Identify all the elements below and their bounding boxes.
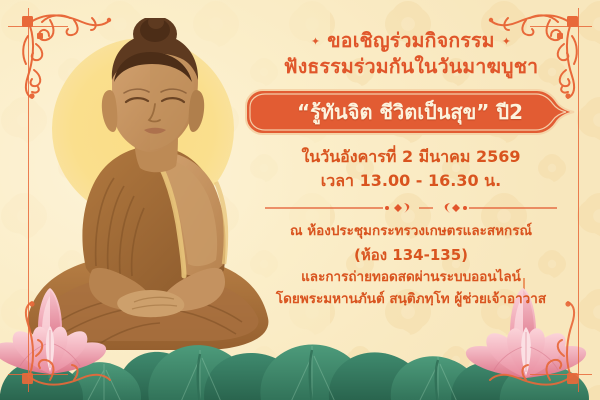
frame-line-top-right bbox=[530, 26, 592, 27]
invitation-poster: ✦ ขอเชิญร่วมกิจกรรม ✦ ฟังธรรมร่วมกันในวั… bbox=[0, 0, 600, 400]
event-speaker: โดยพระมหานภันต์ สนฺติภทฺโท ผู้ช่วยเจ้าอา… bbox=[246, 289, 576, 311]
frame-line-right bbox=[578, 8, 579, 392]
invitation-title-line-1: ✦ ขอเชิญร่วมกิจกรรม ✦ bbox=[246, 28, 576, 54]
banner-label: “รู้ทันจิต ชีวิตเป็นสุข” ปี2 bbox=[245, 89, 575, 135]
theme-banner: “รู้ทันจิต ชีวิตเป็นสุข” ปี2 bbox=[245, 89, 575, 135]
ornamental-divider-icon bbox=[261, 201, 561, 215]
frame-line-top-left bbox=[8, 26, 68, 27]
pink-lotus-cluster-left bbox=[0, 282, 144, 400]
event-room: (ห้อง 134-135) bbox=[246, 243, 576, 267]
frame-line-bottom-left bbox=[8, 374, 68, 375]
invitation-text-content: ✦ ขอเชิญร่วมกิจกรรม ✦ ฟังธรรมร่วมกันในวั… bbox=[246, 28, 576, 311]
event-date: ในวันอังคารที่ 2 มีนาคม 2569 bbox=[246, 145, 576, 170]
invitation-title-line-2: ฟังธรรมร่วมกันในวันมาฆบูชา bbox=[246, 54, 576, 80]
frame-line-bottom-right bbox=[530, 374, 592, 375]
event-venue: ณ ห้องประชุมกระทรวงเกษตรและสหกรณ์ bbox=[246, 221, 576, 243]
event-time: เวลา 13.00 - 16.30 น. bbox=[246, 169, 576, 194]
event-online: และการถ่ายทอดสดผ่านระบบออนไลน์ bbox=[246, 267, 576, 289]
invitation-title-text-1: ขอเชิญร่วมกิจกรรม bbox=[327, 29, 494, 52]
diamond-ornament-icon-right: ✦ bbox=[502, 35, 511, 48]
diamond-ornament-icon-left: ✦ bbox=[311, 35, 320, 48]
frame-line-left bbox=[28, 8, 29, 392]
